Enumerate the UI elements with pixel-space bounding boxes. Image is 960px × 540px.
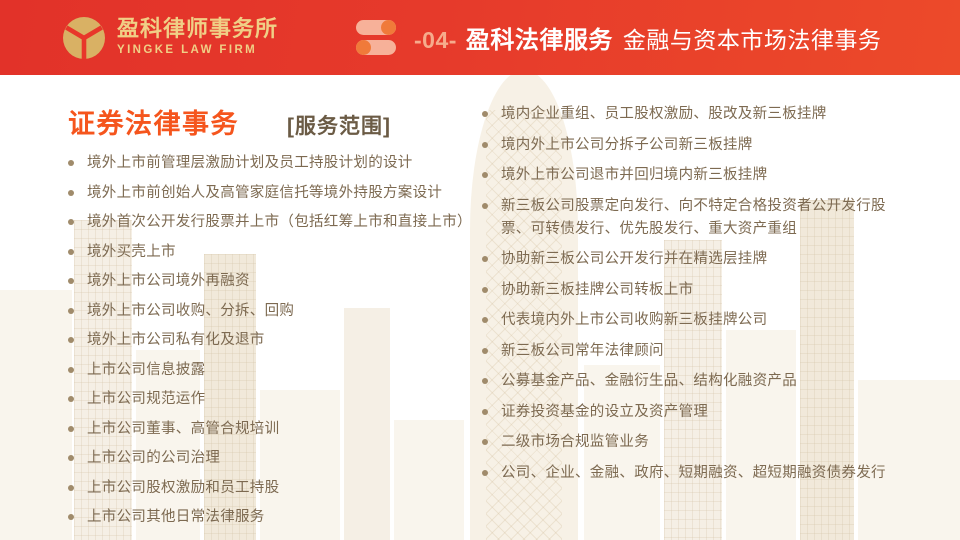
list-item-label: 上市公司的公司治理 xyxy=(87,447,220,469)
list-item: 上市公司其他日常法律服务 xyxy=(68,506,468,528)
header-text-group: -04- 盈科法律服务 金融与资本市场法律事务 xyxy=(414,20,881,55)
list-item: 境内外上市公司分拆子公司新三板挂牌 xyxy=(482,134,902,157)
list-item: 协助新三板挂牌公司转板上市 xyxy=(482,279,902,302)
list-item: 公募基金产品、金融衍生品、结构化融资产品 xyxy=(482,370,902,393)
list-item: 境内企业重组、员工股权激励、股改及新三板挂牌 xyxy=(482,103,902,126)
slide-content: 证券法律事务 [服务范围] 境外上市前管理层激励计划及员工持股计划的设计 境外上… xyxy=(0,75,960,540)
brand-logo: 盈科律师事务所 YINGKE LAW FIRM xyxy=(62,16,278,60)
bullet-dot-icon xyxy=(68,514,74,520)
list-item: 境外上市前创始人及高管家庭信托等境外持股方案设计 xyxy=(68,182,468,204)
bullet-dot-icon xyxy=(68,160,74,166)
list-item-label: 上市公司信息披露 xyxy=(87,359,205,381)
list-item: 上市公司信息披露 xyxy=(68,359,468,381)
list-item-label: 上市公司规范运作 xyxy=(87,388,205,410)
toggle-switch-off xyxy=(356,40,396,55)
list-item-label: 境外首次公开发行股票并上市（包括红筹上市和直接上市） xyxy=(87,211,468,233)
bullet-dot-icon xyxy=(68,426,74,432)
list-item: 新三板公司常年法律顾问 xyxy=(482,340,902,363)
title-row: 证券法律事务 [服务范围] xyxy=(68,102,391,141)
bullet-dot-icon xyxy=(482,378,488,384)
list-item-label: 境外上市前管理层激励计划及员工持股计划的设计 xyxy=(87,152,413,174)
list-item: 境外上市公司收购、分拆、回购 xyxy=(68,300,468,322)
list-item: 协助新三板公司公开发行并在精选层挂牌 xyxy=(482,248,902,271)
list-item-label: 上市公司股权激励和员工持股 xyxy=(87,477,279,499)
bullet-dot-icon xyxy=(482,409,488,415)
list-item-label: 境外上市公司私有化及退市 xyxy=(87,329,265,351)
bullet-dot-icon xyxy=(68,308,74,314)
yingke-circle-y-logo-icon xyxy=(62,16,106,60)
list-item-label: 境内外上市公司分拆子公司新三板挂牌 xyxy=(501,134,753,157)
list-item-label: 境内企业重组、员工股权激励、股改及新三板挂牌 xyxy=(501,103,827,126)
list-item: 上市公司的公司治理 xyxy=(68,447,468,469)
page-title: 证券法律事务 xyxy=(68,102,239,141)
list-item-label: 境外买壳上市 xyxy=(87,241,176,263)
bullet-dot-icon xyxy=(68,219,74,225)
bullet-dot-icon xyxy=(68,249,74,255)
bullet-dot-icon xyxy=(482,203,488,209)
bullet-dot-icon xyxy=(482,348,488,354)
bullet-dot-icon xyxy=(68,367,74,373)
bullet-dot-icon xyxy=(482,256,488,262)
toggle-knob xyxy=(356,40,371,55)
slide-number: -04- xyxy=(414,27,457,54)
list-item-label: 境外上市公司退市并回归境内新三板挂牌 xyxy=(501,164,767,187)
bullet-dot-icon xyxy=(68,455,74,461)
list-item-label: 公司、企业、金融、政府、短期融资、超短期融资债券发行 xyxy=(501,462,886,485)
header-title-sub: 金融与资本市场法律事务 xyxy=(623,21,882,55)
bullet-dot-icon xyxy=(482,470,488,476)
two-toggle-switches-icon xyxy=(356,20,400,55)
list-item-label: 证券投资基金的设立及资产管理 xyxy=(501,401,708,424)
list-item-label: 新三板公司股票定向发行、向不特定合格投资者公开发行股票、可转债发行、优先股发行、… xyxy=(501,195,902,241)
list-item: 境外上市前管理层激励计划及员工持股计划的设计 xyxy=(68,152,468,174)
list-item: 境外上市公司境外再融资 xyxy=(68,270,468,292)
list-item-label: 境外上市公司收购、分拆、回购 xyxy=(87,300,294,322)
left-bullet-column: 境外上市前管理层激励计划及员工持股计划的设计 境外上市前创始人及高管家庭信托等境… xyxy=(68,152,468,536)
list-item-label: 境外上市前创始人及高管家庭信托等境外持股方案设计 xyxy=(87,182,442,204)
list-item: 上市公司董事、高管合规培训 xyxy=(68,418,468,440)
bullet-dot-icon xyxy=(68,278,74,284)
list-item: 境外首次公开发行股票并上市（包括红筹上市和直接上市） xyxy=(68,211,468,233)
list-item-label: 新三板公司常年法律顾问 xyxy=(501,340,664,363)
brand-wordmark: 盈科律师事务所 YINGKE LAW FIRM xyxy=(117,18,278,57)
list-item-label: 上市公司其他日常法律服务 xyxy=(87,506,265,528)
list-item-label: 协助新三板挂牌公司转板上市 xyxy=(501,279,693,302)
list-item-label: 上市公司董事、高管合规培训 xyxy=(87,418,279,440)
bullet-dot-icon xyxy=(68,337,74,343)
toggle-knob xyxy=(381,20,396,35)
list-item-label: 境外上市公司境外再融资 xyxy=(87,270,250,292)
list-item: 二级市场合规监管业务 xyxy=(482,431,902,454)
bullet-dot-icon xyxy=(482,439,488,445)
right-bullet-column: 境内企业重组、员工股权激励、股改及新三板挂牌 境内外上市公司分拆子公司新三板挂牌… xyxy=(482,103,902,492)
list-item-label: 代表境内外上市公司收购新三板挂牌公司 xyxy=(501,309,767,332)
list-item: 上市公司股权激励和员工持股 xyxy=(68,477,468,499)
list-item: 境外上市公司私有化及退市 xyxy=(68,329,468,351)
list-item-label: 协助新三板公司公开发行并在精选层挂牌 xyxy=(501,248,767,271)
bullet-dot-icon xyxy=(68,396,74,402)
list-item: 新三板公司股票定向发行、向不特定合格投资者公开发行股票、可转债发行、优先股发行、… xyxy=(482,195,902,241)
scope-label: [服务范围] xyxy=(287,110,391,140)
list-item: 上市公司规范运作 xyxy=(68,388,468,410)
bullet-dot-icon xyxy=(68,485,74,491)
brand-name-cn: 盈科律师事务所 xyxy=(117,18,278,40)
bullet-dot-icon xyxy=(482,111,488,117)
list-item: 境外上市公司退市并回归境内新三板挂牌 xyxy=(482,164,902,187)
bullet-dot-icon xyxy=(482,172,488,178)
toggle-switch-on xyxy=(356,20,396,35)
list-item-label: 公募基金产品、金融衍生品、结构化融资产品 xyxy=(501,370,797,393)
header-bar: 盈科律师事务所 YINGKE LAW FIRM -04- 盈科法律服务 金融与资… xyxy=(0,0,960,75)
bullet-dot-icon xyxy=(482,287,488,293)
list-item: 证券投资基金的设立及资产管理 xyxy=(482,401,902,424)
list-item: 境外买壳上市 xyxy=(68,241,468,263)
bullet-dot-icon xyxy=(482,317,488,323)
list-item: 代表境内外上市公司收购新三板挂牌公司 xyxy=(482,309,902,332)
bullet-dot-icon xyxy=(68,190,74,196)
list-item: 公司、企业、金融、政府、短期融资、超短期融资债券发行 xyxy=(482,462,902,485)
list-item-label: 二级市场合规监管业务 xyxy=(501,431,649,454)
brand-name-en: YINGKE LAW FIRM xyxy=(117,45,278,57)
bullet-dot-icon xyxy=(482,142,488,148)
header-title-main: 盈科法律服务 xyxy=(466,20,613,55)
